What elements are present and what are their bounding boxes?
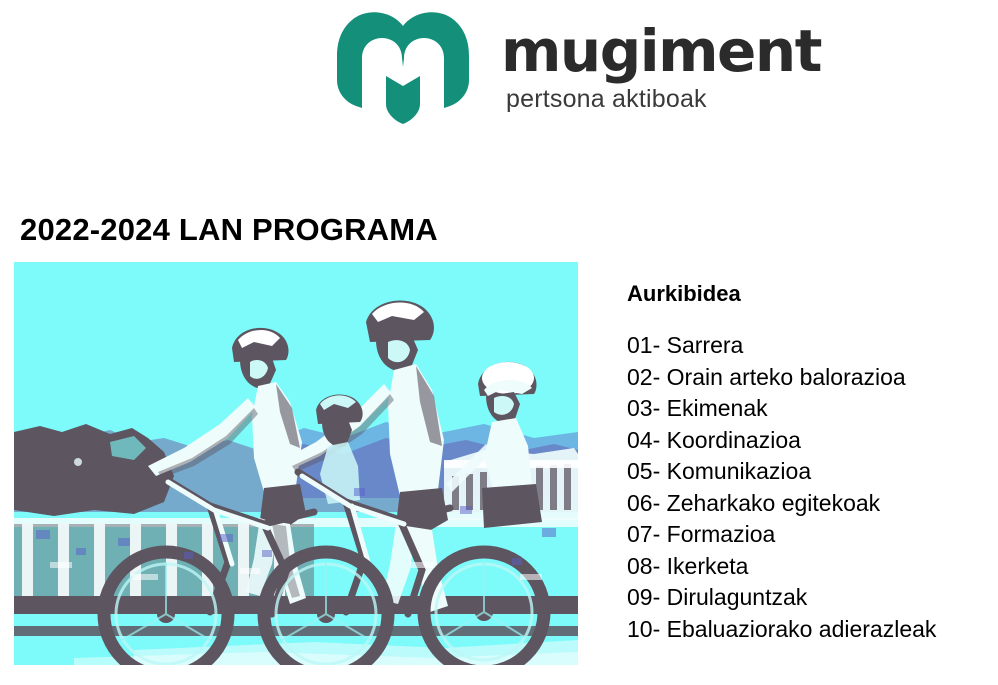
toc-item-label: Zeharkako egitekoak [667, 490, 881, 516]
toc-item-number: 06- [627, 490, 660, 516]
toc-item-number: 09- [627, 584, 660, 610]
toc-item-label: Orain arteko balorazioa [667, 364, 906, 390]
toc-item-label: Dirulaguntzak [667, 584, 808, 610]
toc-item-number: 02- [627, 364, 660, 390]
toc-item-number: 04- [627, 427, 660, 453]
toc-item-number: 08- [627, 553, 660, 579]
toc-list: 01- Sarrera 02- Orain arteko balorazioa … [627, 330, 987, 645]
toc-item-06[interactable]: 06- Zeharkako egitekoak [627, 488, 987, 520]
brand-wordmark: mugiment [501, 20, 801, 82]
toc-item-label: Sarrera [667, 332, 744, 358]
brand-logo-lockup: mugiment pertsona aktiboak [336, 12, 796, 128]
toc-item-03[interactable]: 03- Ekimenak [627, 393, 987, 425]
toc-item-number: 10- [627, 616, 660, 642]
brand-text-block: mugiment pertsona aktiboak [501, 20, 801, 114]
toc-item-09[interactable]: 09- Dirulaguntzak [627, 582, 987, 614]
brand-tagline: pertsona aktiboak [506, 84, 801, 114]
toc-item-label: Formazioa [667, 521, 776, 547]
cyclists-duotone-photo [14, 262, 578, 665]
toc-item-08[interactable]: 08- Ikerketa [627, 551, 987, 583]
page-title: 2022-2024 LAN PROGRAMA [20, 211, 438, 249]
toc-item-number: 01- [627, 332, 660, 358]
table-of-contents: Aurkibidea 01- Sarrera 02- Orain arteko … [627, 280, 987, 645]
toc-item-label: Ekimenak [667, 395, 768, 421]
toc-item-04[interactable]: 04- Koordinazioa [627, 425, 987, 457]
toc-item-label: Koordinazioa [667, 427, 801, 453]
toc-item-number: 07- [627, 521, 660, 547]
mugiment-heart-m-icon [336, 12, 470, 124]
toc-item-05[interactable]: 05- Komunikazioa [627, 456, 987, 488]
toc-item-07[interactable]: 07- Formazioa [627, 519, 987, 551]
toc-item-01[interactable]: 01- Sarrera [627, 330, 987, 362]
toc-item-number: 03- [627, 395, 660, 421]
toc-item-label: Komunikazioa [667, 458, 811, 484]
toc-item-label: Ikerketa [667, 553, 749, 579]
toc-item-label: Ebaluaziorako adierazleak [667, 616, 937, 642]
toc-item-number: 05- [627, 458, 660, 484]
toc-heading: Aurkibidea [627, 280, 987, 308]
toc-item-02[interactable]: 02- Orain arteko balorazioa [627, 362, 987, 394]
toc-item-10[interactable]: 10- Ebaluaziorako adierazleak [627, 614, 987, 646]
